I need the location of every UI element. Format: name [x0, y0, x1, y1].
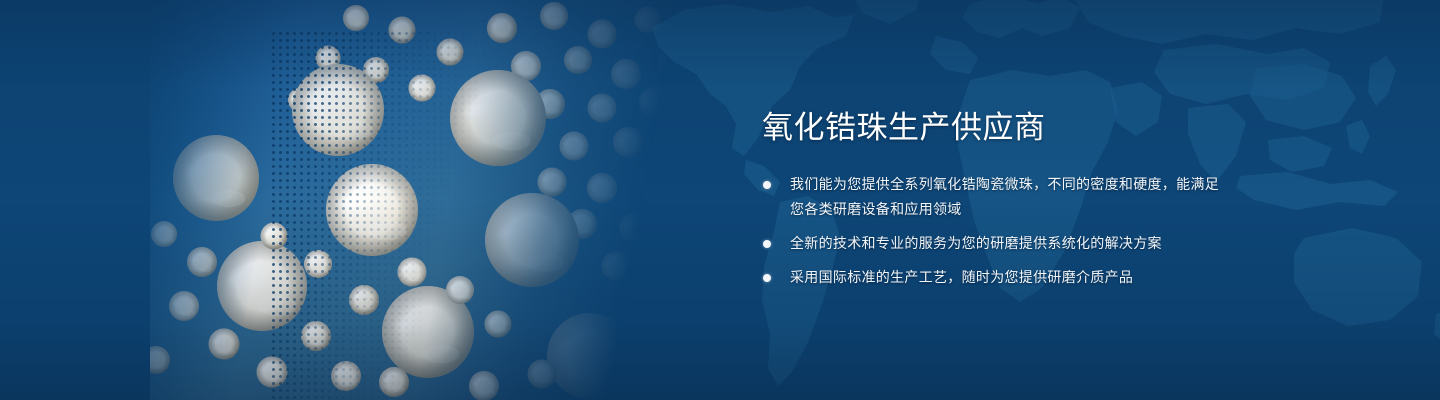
- bullet-dot-icon: [763, 274, 771, 282]
- hero-banner: 氧化锆珠生产供应商 我们能为您提供全系列氧化锆陶瓷微珠，不同的密度和硬度，能满足…: [0, 0, 1440, 400]
- feature-bullet-item: 我们能为您提供全系列氧化锆陶瓷微珠，不同的密度和硬度，能满足您各类研磨设备和应用…: [762, 172, 1232, 222]
- bullet-dot-icon: [763, 240, 771, 248]
- feature-bullet-item: 全新的技术和专业的服务为您的研磨提供系统化的解决方案: [762, 231, 1232, 256]
- feature-bullet-text: 我们能为您提供全系列氧化锆陶瓷微珠，不同的密度和硬度，能满足您各类研磨设备和应用…: [790, 176, 1219, 217]
- banner-copy: 氧化锆珠生产供应商 我们能为您提供全系列氧化锆陶瓷微珠，不同的密度和硬度，能满足…: [762, 108, 1232, 290]
- feature-bullet-list: 我们能为您提供全系列氧化锆陶瓷微珠，不同的密度和硬度，能满足您各类研磨设备和应用…: [762, 172, 1232, 290]
- feature-bullet-text: 全新的技术和专业的服务为您的研磨提供系统化的解决方案: [790, 235, 1162, 251]
- feature-bullet-text: 采用国际标准的生产工艺，随时为您提供研磨介质产品: [790, 269, 1133, 285]
- feature-bullet-item: 采用国际标准的生产工艺，随时为您提供研磨介质产品: [762, 265, 1232, 290]
- banner-headline: 氧化锆珠生产供应商: [762, 108, 1232, 148]
- bullet-dot-icon: [763, 181, 771, 189]
